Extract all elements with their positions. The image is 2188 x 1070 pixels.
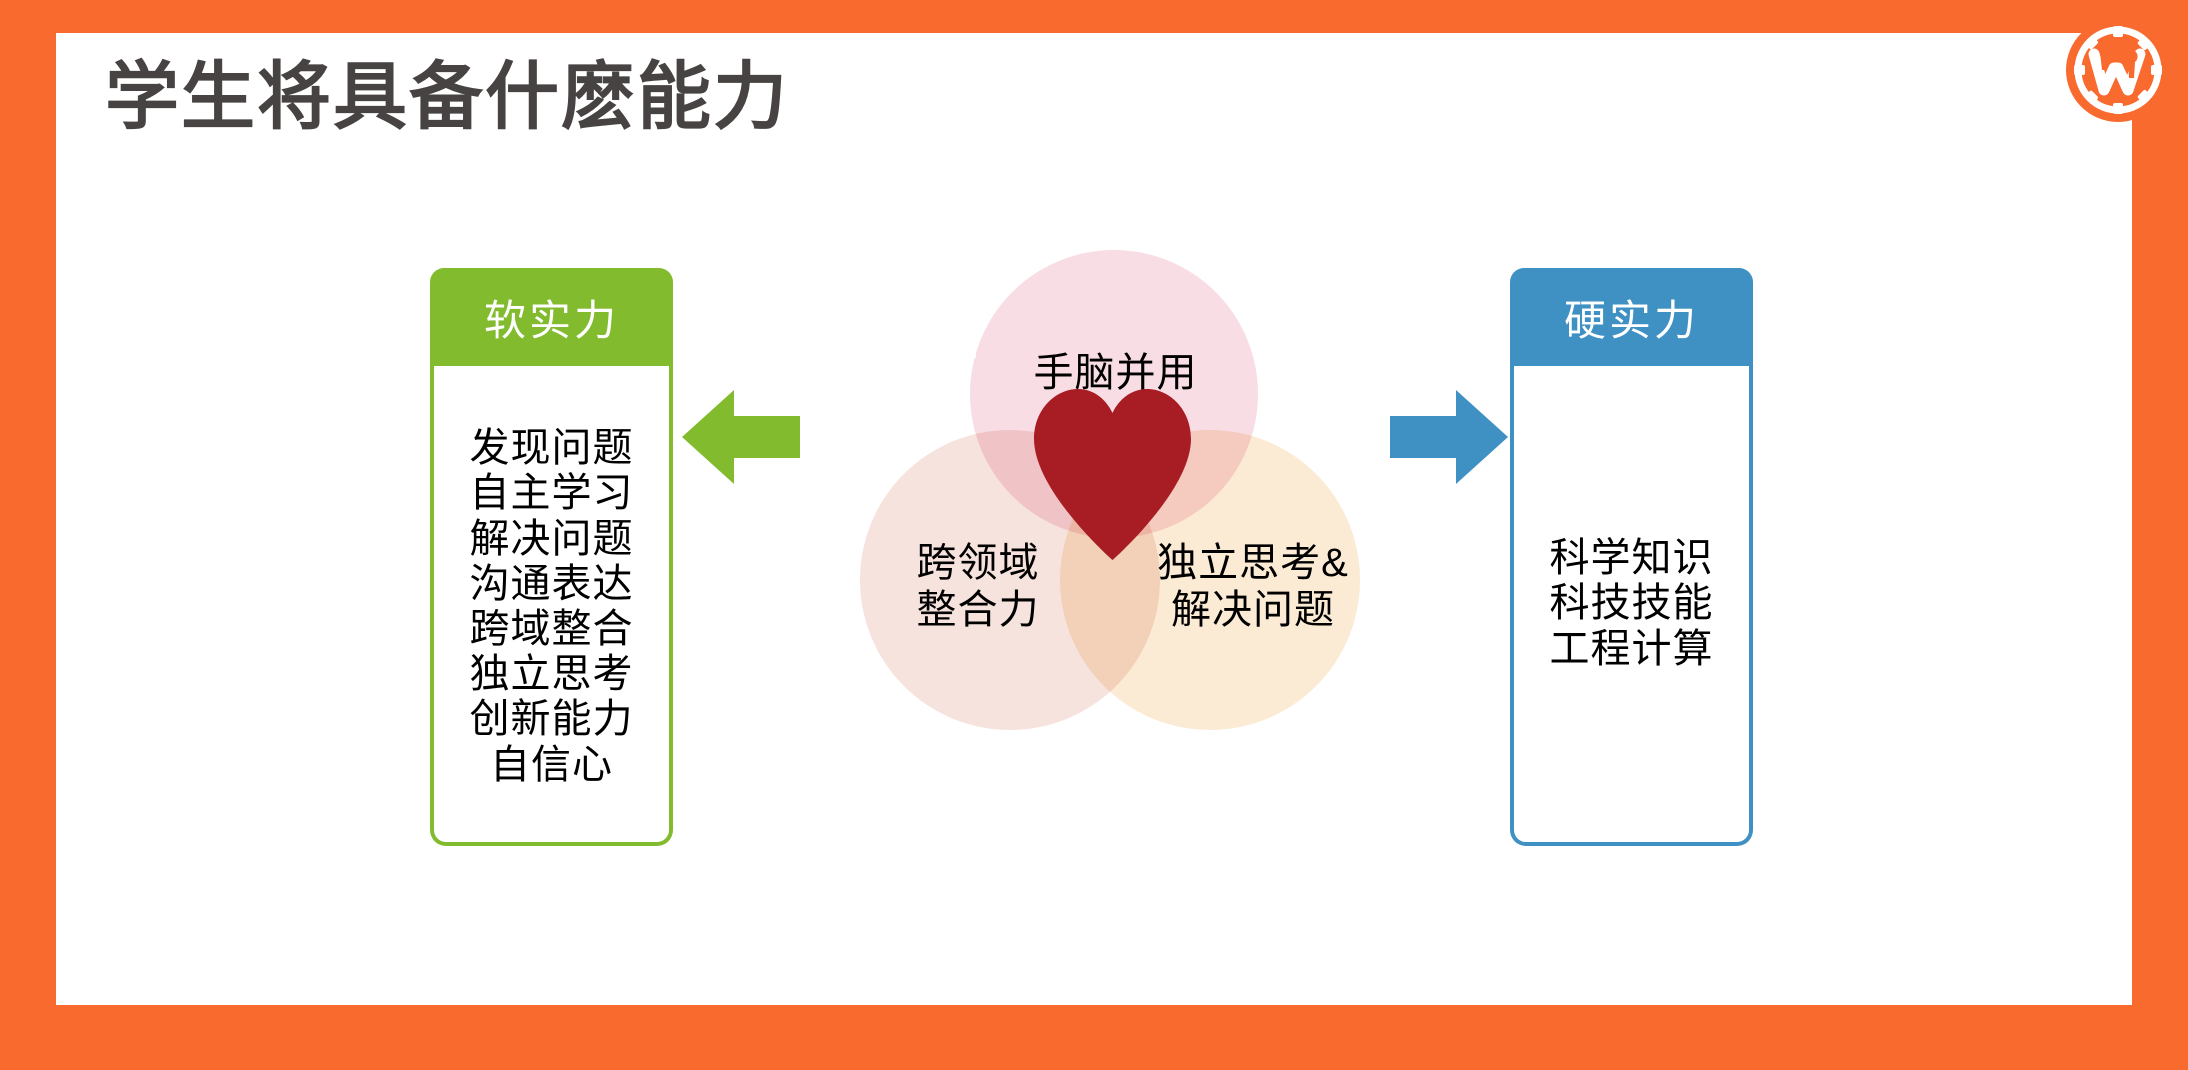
list-item: 工程计算 (1550, 627, 1714, 672)
list-item: 科技技能 (1550, 581, 1714, 626)
list-item: 创新能力 (470, 697, 634, 742)
list-item: 跨域整合 (470, 607, 634, 652)
hard-skills-list: 科学知识 科技技能 工程计算 (1510, 366, 1753, 846)
heart-icon (1030, 385, 1195, 560)
list-item: 独立思考 (470, 652, 634, 697)
venn-diagram: 手脑并用 跨领域 整合力 独立思考& 解决问题 热情 (860, 250, 1360, 890)
soft-skills-header: 软实力 (430, 268, 673, 366)
list-item: 解决问题 (470, 517, 634, 562)
hard-skills-card: 硬实力 科学知识 科技技能 工程计算 (1510, 268, 1753, 846)
soft-skills-list: 发现问题 自主学习 解决问题 沟通表达 跨域整合 独立思考 创新能力 自信心 (430, 366, 673, 846)
list-item: 自主学习 (470, 471, 634, 516)
list-item: 自信心 (490, 743, 613, 788)
w-tools-circle-logo (2066, 18, 2170, 122)
venn-label-br-line2: 解决问题 (1128, 587, 1378, 634)
list-item: 科学知识 (1550, 536, 1714, 581)
soft-skills-card: 软实力 发现问题 自主学习 解决问题 沟通表达 跨域整合 独立思考 创新能力 自… (430, 268, 673, 846)
right-arrow-icon (1390, 378, 1508, 501)
list-item: 沟通表达 (470, 562, 634, 607)
slide: 学生将具备什麽能力 软实力 发现问题 自主学习 解决问题 沟通表达 跨域整合 独… (0, 0, 2188, 1070)
left-arrow-icon (682, 378, 800, 501)
hard-skills-header: 硬实力 (1510, 268, 1753, 366)
venn-label-bl-line2: 整合力 (868, 587, 1088, 634)
page-title: 学生将具备什麽能力 (105, 58, 789, 136)
heart-label: 热情 (860, 312, 1025, 367)
list-item: 发现问题 (470, 426, 634, 471)
